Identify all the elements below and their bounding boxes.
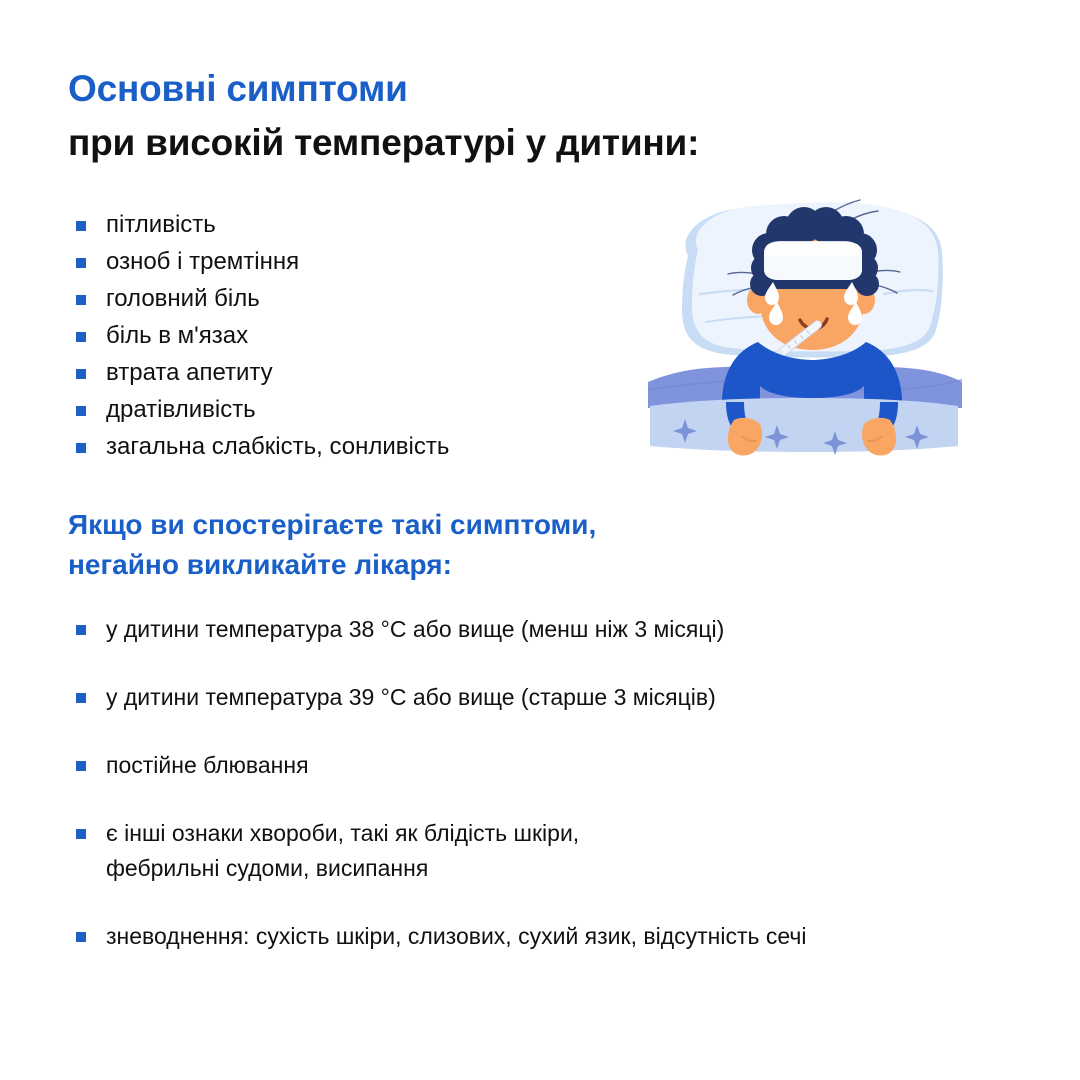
page-title: Основні симптоми при високій температурі… <box>68 66 948 166</box>
list-item: постійне блювання <box>76 748 1036 783</box>
list-item-label: втрата апетиту <box>106 359 273 386</box>
list-item: озноб і тремтіння <box>76 243 596 280</box>
section-subtitle: Якщо ви спостерігаєте такі симптоми, нег… <box>68 505 968 585</box>
list-item-label: у дитини температура 39 °C або вище (ста… <box>106 680 1036 715</box>
list-item: у дитини температура 39 °C або вище (ста… <box>76 680 1036 715</box>
page-title-line-1: Основні симптоми <box>68 66 948 112</box>
square-bullet-icon <box>76 369 86 379</box>
list-item: зневоднення: сухість шкіри, слизових, су… <box>76 919 1036 954</box>
section-subtitle-line-1: Якщо ви спостерігаєте такі симптоми, <box>68 505 968 545</box>
list-item-label: пітливість <box>106 211 216 238</box>
page-title-line-2: при високій температурі у дитини: <box>68 120 948 166</box>
square-bullet-icon <box>76 761 86 771</box>
list-item-label: постійне блювання <box>106 748 1036 783</box>
list-item-label-continued: фебрильні судоми, висипання <box>106 851 1036 886</box>
list-item: загальна слабкість, сонливість <box>76 428 596 465</box>
list-item: головний біль <box>76 280 596 317</box>
square-bullet-icon <box>76 932 86 942</box>
list-item-label: зневоднення: сухість шкіри, слизових, су… <box>106 919 1036 954</box>
list-item-label: у дитини температура 38 °C або вище (мен… <box>106 612 1036 647</box>
square-bullet-icon <box>76 693 86 703</box>
list-item: є інші ознаки хвороби, такі як блідість … <box>76 816 1036 886</box>
section-subtitle-line-2: негайно викликайте лікаря: <box>68 545 968 585</box>
list-item: біль в м'язах <box>76 317 596 354</box>
list-item: дратівливість <box>76 391 596 428</box>
square-bullet-icon <box>76 625 86 635</box>
list-item: пітливість <box>76 206 596 243</box>
list-item-label: озноб і тремтіння <box>106 248 299 275</box>
square-bullet-icon <box>76 332 86 342</box>
symptoms-list: пітливість озноб і тремтіння головний бі… <box>76 206 596 465</box>
square-bullet-icon <box>76 406 86 416</box>
list-item-label: головний біль <box>106 285 260 312</box>
square-bullet-icon <box>76 295 86 305</box>
list-item-label: дратівливість <box>106 396 256 423</box>
list-item-label: є інші ознаки хвороби, такі як блідість … <box>106 816 1036 851</box>
square-bullet-icon <box>76 258 86 268</box>
list-item: у дитини температура 38 °C або вище (мен… <box>76 612 1036 647</box>
sick-child-in-bed-illustration <box>636 190 972 462</box>
square-bullet-icon <box>76 221 86 231</box>
list-item-label: біль в м'язах <box>106 322 248 349</box>
infographic-page: Основні симптоми при високій температурі… <box>0 0 1080 1080</box>
list-item-label: загальна слабкість, сонливість <box>106 433 449 460</box>
square-bullet-icon <box>76 829 86 839</box>
list-item: втрата апетиту <box>76 354 596 391</box>
square-bullet-icon <box>76 443 86 453</box>
warnings-list: у дитини температура 38 °C або вище (мен… <box>76 612 1036 987</box>
